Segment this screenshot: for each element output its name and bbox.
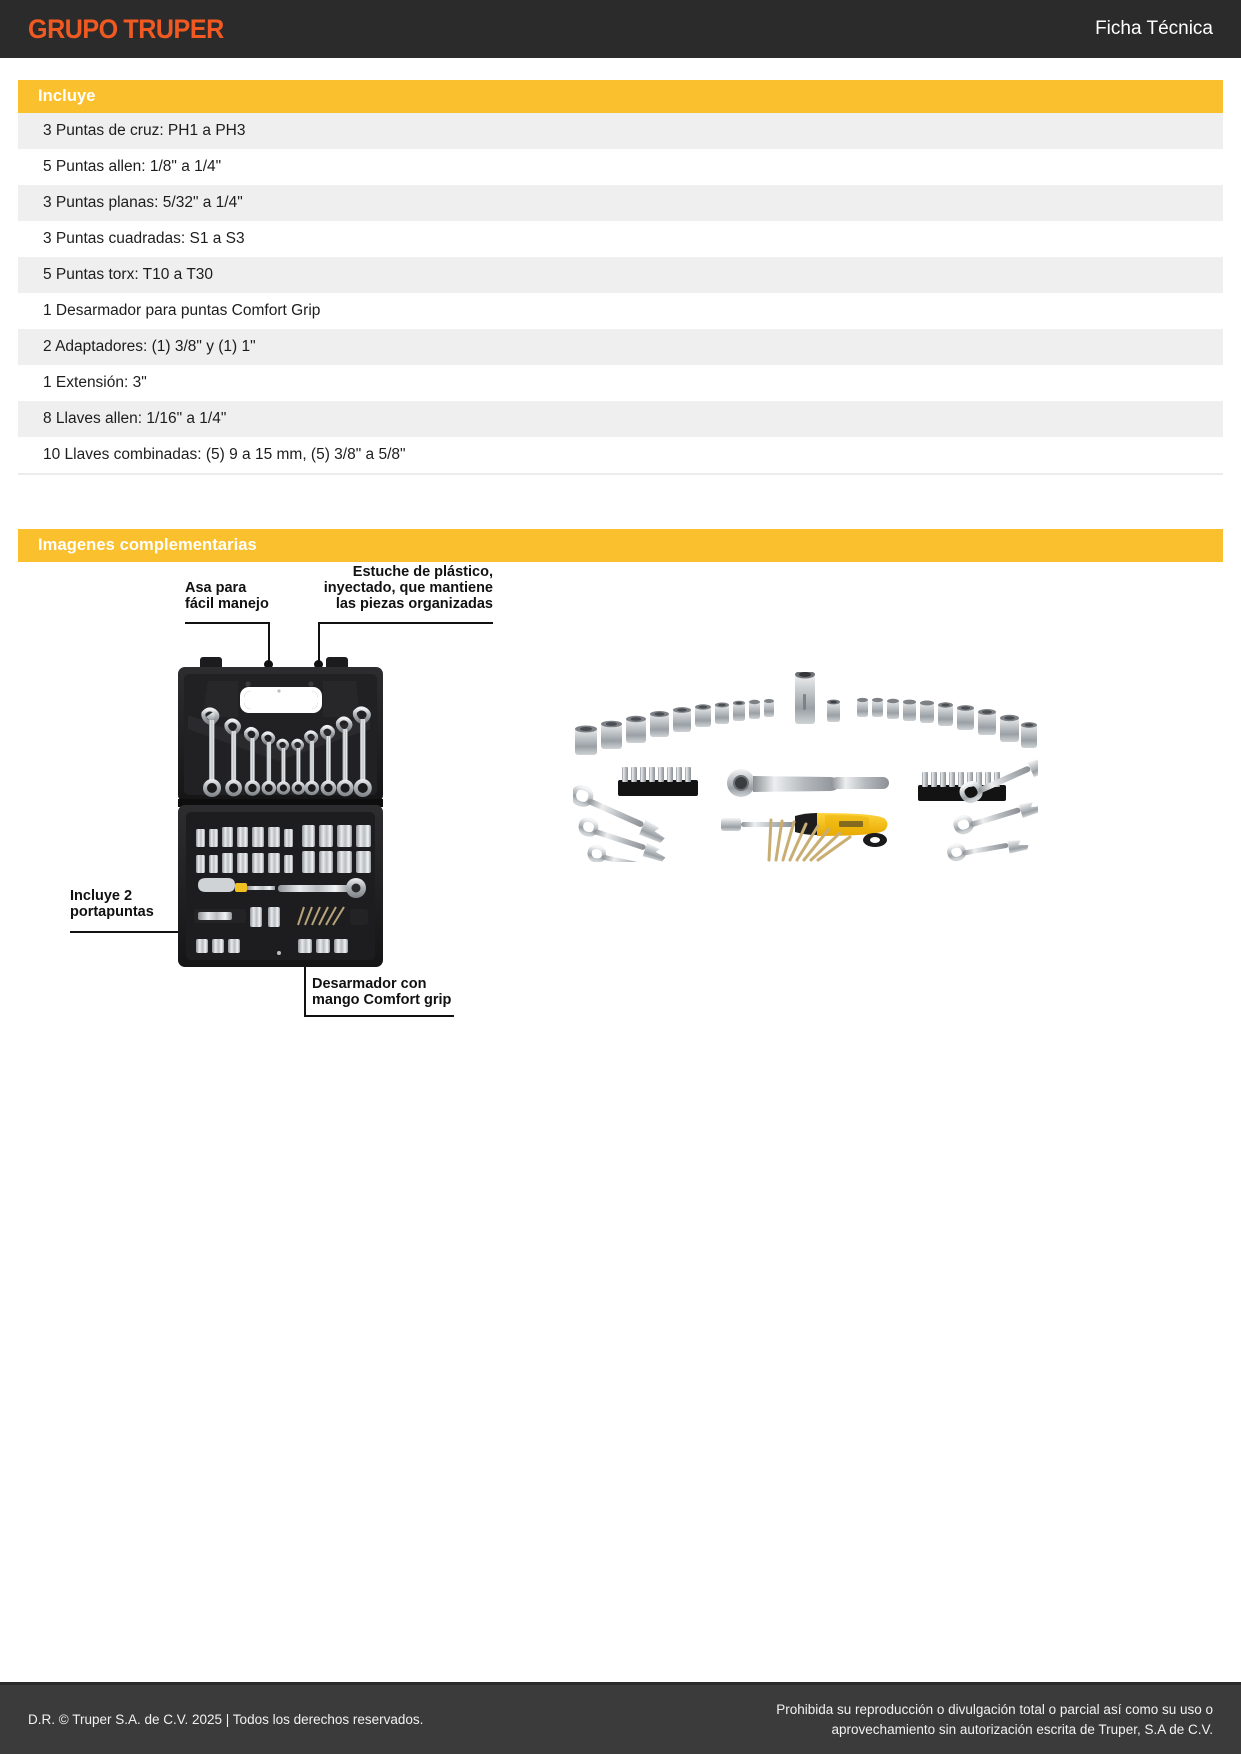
list-item-text: 5 Puntas torx: T10 a T30 xyxy=(43,266,213,284)
footer-legal-notice: Prohibida su reproducción o divulgación … xyxy=(776,1700,1213,1739)
list-item-text: 2 Adaptadores: (1) 3/8" y (1) 1" xyxy=(43,338,256,356)
list-item: 3 Puntas cuadradas: S1 a S3 xyxy=(18,221,1223,257)
list-item-text: 8 Llaves allen: 1/16" a 1/4" xyxy=(43,410,226,428)
list-item-text: 3 Puntas cuadradas: S1 a S3 xyxy=(43,230,245,248)
document-title: Ficha Técnica xyxy=(1095,18,1213,40)
page-footer: D.R. © Truper S.A. de C.V. 2025 | Todos … xyxy=(0,1682,1241,1754)
footer-copyright: D.R. © Truper S.A. de C.V. 2025 | Todos … xyxy=(28,1712,423,1727)
list-item-text: 10 Llaves combinadas: (5) 9 a 15 mm, (5)… xyxy=(43,446,406,464)
list-item-text: 1 Desarmador para puntas Comfort Grip xyxy=(43,302,320,320)
section-header-includes-label: Incluye xyxy=(38,87,96,106)
callout-handle-label: Asa para fácil manejo xyxy=(185,580,269,612)
brand-logo-grupo: GRUPO xyxy=(28,14,118,44)
list-item-text: 3 Puntas de cruz: PH1 a PH3 xyxy=(43,122,245,140)
spacer-top xyxy=(0,58,1241,80)
callout-handle-leader-h xyxy=(185,622,270,624)
callout-case-label: Estuche de plástico, inyectado, que mant… xyxy=(308,564,493,613)
callout-screwdriver-leader-h xyxy=(304,1015,454,1017)
brand-logo-truper: TRUPER xyxy=(123,14,223,44)
list-item: 5 Puntas torx: T10 a T30 xyxy=(18,257,1223,293)
callout-bitholders-label: Incluye 2 portapuntas xyxy=(70,888,154,920)
page-header: GRUPOTRUPER Ficha Técnica xyxy=(0,0,1241,58)
list-item: 2 Adaptadores: (1) 3/8" y (1) 1" xyxy=(18,329,1223,365)
section-header-images: Imagenes complementarias xyxy=(18,529,1223,562)
spacer-mid xyxy=(0,475,1241,529)
list-item-text: 1 Extensión: 3" xyxy=(43,374,147,392)
list-item: 8 Llaves allen: 1/16" a 1/4" xyxy=(18,401,1223,437)
list-item: 5 Puntas allen: 1/8" a 1/4" xyxy=(18,149,1223,185)
callout-screwdriver-label: Desarmador con mango Comfort grip xyxy=(312,976,451,1008)
includes-list: 3 Puntas de cruz: PH1 a PH3 5 Puntas all… xyxy=(18,113,1223,475)
tool-spread-image xyxy=(573,672,1038,862)
list-item: 1 Desarmador para puntas Comfort Grip xyxy=(18,293,1223,329)
tool-case-image xyxy=(178,657,383,967)
complementary-images: Asa para fácil manejo Estuche de plástic… xyxy=(18,562,1223,1062)
callout-case-leader-h xyxy=(318,622,493,624)
list-item: 3 Puntas planas: 5/32" a 1/4" xyxy=(18,185,1223,221)
section-header-includes: Incluye xyxy=(18,80,1223,113)
section-header-images-label: Imagenes complementarias xyxy=(38,536,257,555)
list-item: 10 Llaves combinadas: (5) 9 a 15 mm, (5)… xyxy=(18,437,1223,473)
list-item-text: 3 Puntas planas: 5/32" a 1/4" xyxy=(43,194,243,212)
list-item-text: 5 Puntas allen: 1/8" a 1/4" xyxy=(43,158,221,176)
list-item: 3 Puntas de cruz: PH1 a PH3 xyxy=(18,113,1223,149)
brand-logo: GRUPOTRUPER xyxy=(28,14,224,45)
list-item: 1 Extensión: 3" xyxy=(18,365,1223,401)
